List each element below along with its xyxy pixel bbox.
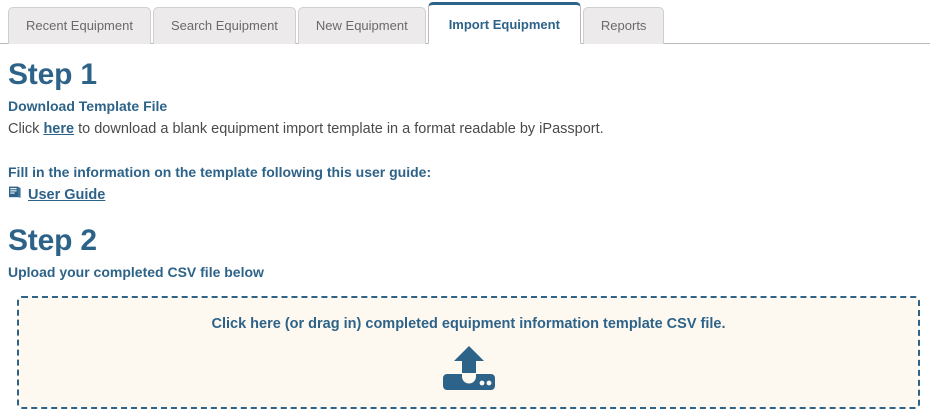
- tab-label: Search Equipment: [171, 18, 278, 33]
- step-2-heading: Step 2: [8, 204, 930, 258]
- tab-import-equipment[interactable]: Import Equipment: [428, 2, 581, 44]
- book-icon: [8, 185, 23, 204]
- upload-csv-subheading: Upload your completed CSV file below: [8, 264, 930, 280]
- tab-new-equipment[interactable]: New Equipment: [298, 7, 426, 44]
- tab-label: Import Equipment: [449, 17, 560, 32]
- tab-reports[interactable]: Reports: [583, 7, 665, 44]
- tab-recent-equipment[interactable]: Recent Equipment: [8, 7, 151, 44]
- tab-label: Reports: [601, 18, 647, 33]
- import-equipment-panel: Step 1 Download Template File Click here…: [0, 44, 930, 409]
- tab-list: Recent Equipment Search Equipment New Eq…: [8, 0, 930, 44]
- dropzone-label: Click here (or drag in) completed equipm…: [211, 316, 725, 332]
- download-template-subheading: Download Template File: [8, 98, 930, 114]
- fill-template-instruction: Fill in the information on the template …: [8, 164, 930, 180]
- user-guide-link[interactable]: User Guide: [8, 185, 105, 204]
- tab-label: New Equipment: [316, 18, 408, 33]
- tab-bar: Recent Equipment Search Equipment New Eq…: [0, 0, 930, 44]
- step-1-heading: Step 1: [8, 44, 930, 92]
- user-guide-label: User Guide: [28, 187, 105, 203]
- tab-label: Recent Equipment: [26, 18, 133, 33]
- tab-search-equipment[interactable]: Search Equipment: [153, 7, 296, 44]
- instruction-suffix: to download a blank equipment import tem…: [74, 121, 604, 137]
- csv-dropzone[interactable]: Click here (or drag in) completed equipm…: [17, 296, 920, 409]
- download-template-link[interactable]: here: [43, 121, 74, 137]
- upload-icon: [443, 346, 495, 395]
- download-instruction: Click here to download a blank equipment…: [8, 121, 930, 137]
- instruction-prefix: Click: [8, 121, 43, 137]
